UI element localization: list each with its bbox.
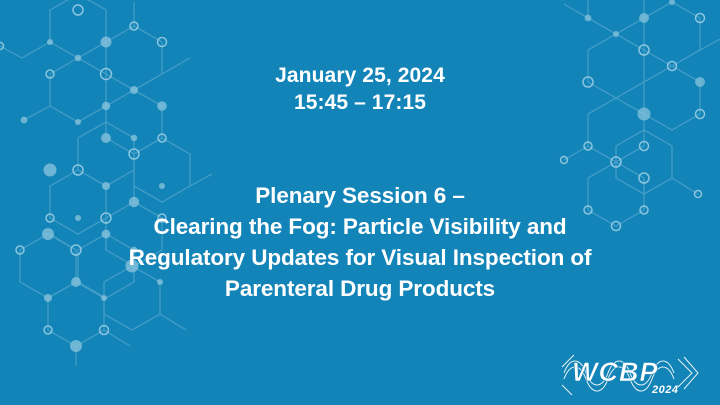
session-title-line-3: Regulatory Updates for Visual Inspection…	[0, 242, 720, 273]
session-title: Plenary Session 6 – Clearing the Fog: Pa…	[0, 180, 720, 304]
slide-content: January 25, 2024 15:45 – 17:15 Plenary S…	[0, 0, 720, 405]
presentation-slide: January 25, 2024 15:45 – 17:15 Plenary S…	[0, 0, 720, 405]
session-title-line-1: Plenary Session 6 –	[0, 180, 720, 211]
wcbp-logo-year: 2024	[651, 384, 678, 395]
wcbp-logo-text: WCBP	[572, 357, 659, 387]
session-datetime: January 25, 2024 15:45 – 17:15	[0, 62, 720, 116]
session-date: January 25, 2024	[0, 62, 720, 89]
session-title-line-4: Parenteral Drug Products	[0, 273, 720, 304]
wcbp-logo: WCBP 2024	[560, 347, 702, 395]
session-time: 15:45 – 17:15	[0, 89, 720, 116]
session-title-line-2: Clearing the Fog: Particle Visibility an…	[0, 211, 720, 242]
